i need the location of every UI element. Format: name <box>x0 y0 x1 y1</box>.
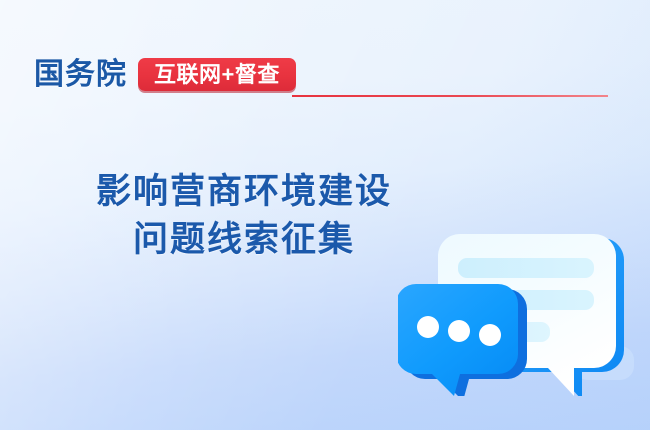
page-title: 影响营商环境建设 问题线索征集 <box>0 168 488 264</box>
page-title-line-2: 问题线索征集 <box>0 216 488 264</box>
program-badge-label: 互联网+督查 <box>154 64 280 86</box>
typing-dot-2 <box>448 320 470 342</box>
banner-root: 国务院 互联网+督查 影响营商环境建设 问题线索征集 <box>0 0 650 430</box>
typing-indicator-bubble <box>398 284 527 396</box>
org-name: 国务院 <box>34 60 127 90</box>
banner-header: 国务院 互联网+督查 <box>34 58 296 91</box>
typing-dot-3 <box>479 324 501 346</box>
header-divider-rule <box>292 95 608 97</box>
page-title-line-1: 影响营商环境建设 <box>0 168 488 216</box>
typing-dot-1 <box>417 316 439 338</box>
program-badge-pill: 互联网+督查 <box>138 58 296 91</box>
program-badge: 互联网+督查 <box>138 58 296 91</box>
